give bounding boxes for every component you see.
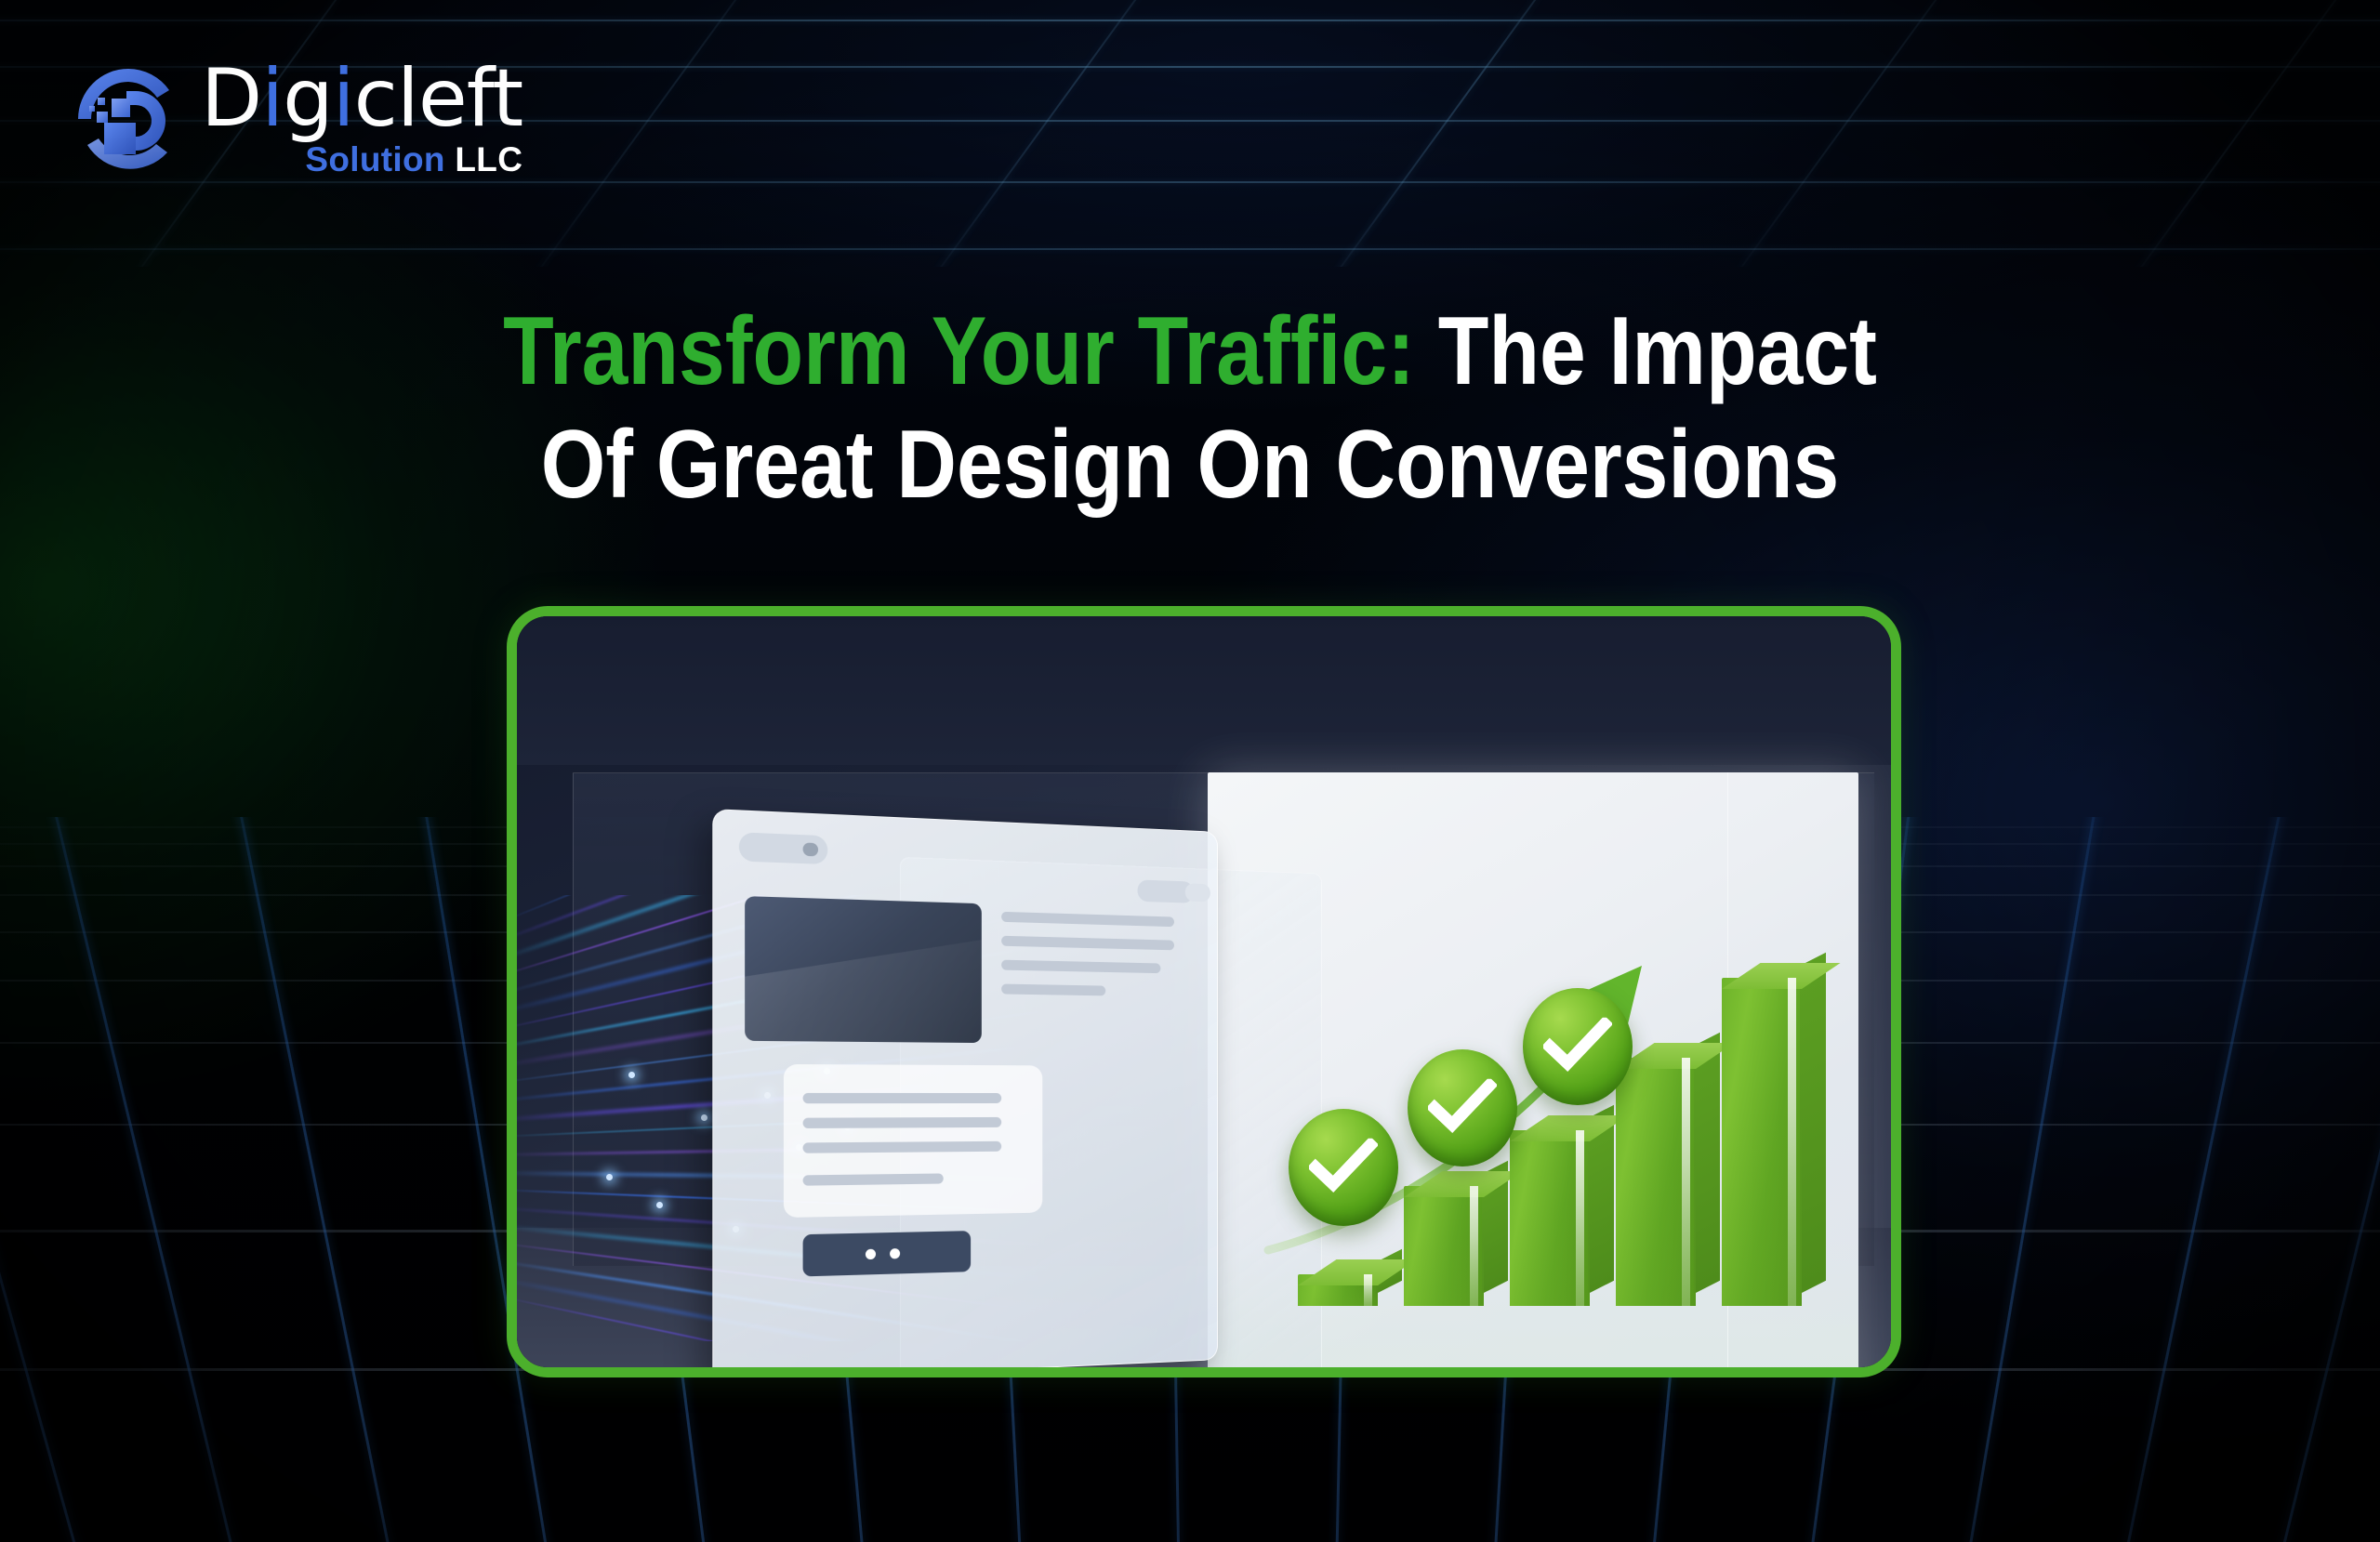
mockup-text-line xyxy=(803,1093,1002,1103)
light-spark xyxy=(701,1114,707,1121)
light-spark xyxy=(628,1072,635,1078)
hero-illustration xyxy=(517,616,1891,1367)
ceiling-grid-diagonal xyxy=(911,0,1245,267)
headline-line-2-text: Of Great Design On Conversions xyxy=(541,411,1840,519)
mockup-text-line xyxy=(803,1117,1002,1128)
chart-bar xyxy=(1404,1186,1484,1306)
floor-grid-vertical xyxy=(3,817,293,1542)
chart-bar-reflection xyxy=(1616,1162,1696,1306)
check-mark-icon xyxy=(1408,1049,1517,1166)
check-glyph xyxy=(1428,1079,1497,1135)
ceiling-grid-diagonal xyxy=(0,0,46,267)
chart-bar-side xyxy=(1800,953,1826,1294)
mockup-text-line xyxy=(1001,936,1174,951)
floor-grid-vertical xyxy=(0,817,144,1542)
check-mark-icon xyxy=(1289,1109,1398,1226)
backdrop-top-band xyxy=(517,616,1891,765)
brand-logo[interactable]: Digicleft Solution LLC xyxy=(69,54,522,179)
floor-grid-vertical xyxy=(2221,817,2380,1542)
mockup-hero-image xyxy=(745,896,982,1043)
brand-tagline-llc: LLC xyxy=(455,140,522,178)
ceiling-grid-line xyxy=(0,248,2380,250)
brand-tagline: Solution LLC xyxy=(201,140,522,179)
check-mark-icon xyxy=(1523,988,1633,1105)
light-spark xyxy=(606,1174,613,1180)
ceiling-grid-diagonal xyxy=(1311,0,1645,267)
chart-bar-side xyxy=(1694,1033,1720,1294)
light-spark xyxy=(656,1202,663,1208)
brand-name-i1: i xyxy=(261,52,283,145)
brand-name-d: D xyxy=(201,52,261,145)
brand-name-g: g xyxy=(283,52,333,145)
mockup-text-line xyxy=(803,1141,1002,1153)
mockup-text-line xyxy=(1001,912,1174,927)
mockup-url-pill xyxy=(739,832,827,864)
brand-name-cleft: cleft xyxy=(354,52,523,145)
headline-line-1: Transform Your Traffic: The Impact xyxy=(166,296,2214,409)
chart-bar-reflection xyxy=(1298,1287,1378,1306)
mockup-cta-button xyxy=(803,1231,972,1276)
ceiling-grid-diagonal xyxy=(1711,0,2044,267)
chart-bar-reflection xyxy=(1510,1204,1590,1306)
ceiling-grid-diagonal xyxy=(2110,0,2380,267)
brand-name: Digicleft xyxy=(201,63,522,135)
mockup-content-card xyxy=(784,1064,1042,1218)
floor-grid-vertical xyxy=(1924,817,2132,1542)
floor-grid-vertical xyxy=(196,817,443,1542)
hero-image-card[interactable] xyxy=(507,606,1901,1377)
chart-bar xyxy=(1616,1058,1696,1306)
mockup-text-line xyxy=(803,1173,944,1185)
ceiling-grid-line xyxy=(0,20,2380,21)
brand-name-i2: i xyxy=(333,52,354,145)
website-mockup-window xyxy=(712,809,1218,1367)
chart-bar xyxy=(1510,1130,1590,1306)
ceiling-grid-diagonal xyxy=(511,0,845,267)
mockup-text-line xyxy=(1001,984,1105,996)
digicleft-logo-icon xyxy=(69,59,188,178)
chart-bar-reflection xyxy=(1722,1116,1802,1307)
headline-green-text: Transform Your Traffic: xyxy=(503,297,1415,405)
headline-line-2: Of Great Design On Conversions xyxy=(166,409,2214,522)
brand-tagline-solution: Solution xyxy=(305,140,444,178)
headline-white-text: The Impact xyxy=(1415,297,1877,405)
mockup-text-line xyxy=(1001,960,1160,974)
mockup-nav-pill-2 xyxy=(1185,883,1210,902)
page-title: Transform Your Traffic: The Impact Of Gr… xyxy=(0,296,2380,521)
poster-canvas: Digicleft Solution LLC Transform Your Tr… xyxy=(0,0,2380,1542)
floor-grid-vertical xyxy=(2072,817,2325,1542)
check-glyph xyxy=(1543,1018,1612,1074)
chart-bar xyxy=(1722,978,1802,1306)
check-glyph xyxy=(1309,1139,1378,1194)
chart-bar-reflection xyxy=(1404,1236,1484,1306)
chart-bar xyxy=(1298,1274,1378,1306)
growth-bar-chart xyxy=(1251,830,1846,1367)
ceiling-grid-line xyxy=(0,181,2380,183)
